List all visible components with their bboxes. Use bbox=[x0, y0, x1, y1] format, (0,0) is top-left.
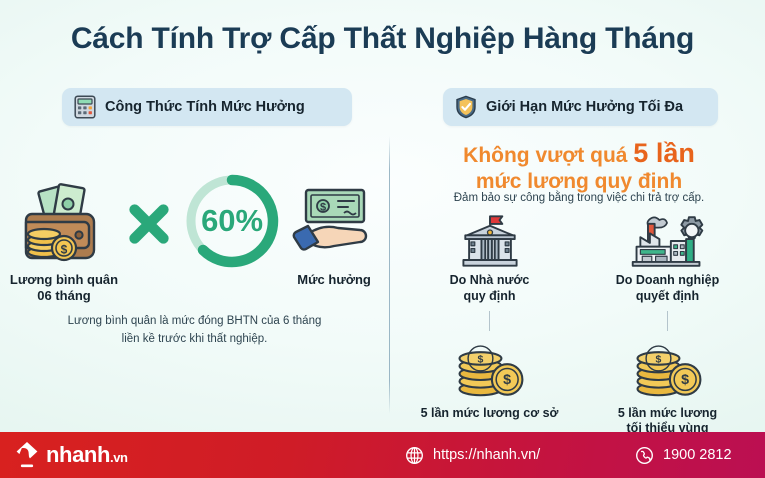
footer-phone[interactable]: 1900 2812 bbox=[635, 446, 732, 465]
page-title: Cách Tính Trợ Cấp Thất Nghiệp Hàng Tháng bbox=[0, 22, 765, 56]
limit-headline: Không vượt quá 5 lần mức lương quy định bbox=[396, 138, 762, 195]
section-badge-limit-label: Giới Hạn Mức Hưởng Tối Đa bbox=[486, 99, 683, 115]
footer-website[interactable]: https://nhanh.vn/ bbox=[405, 446, 540, 465]
footer-phone-text: 1900 2812 bbox=[663, 447, 732, 463]
formula-result-caption: Mức hưởng bbox=[297, 272, 371, 288]
limit-headline-prefix: Không vượt quá bbox=[463, 144, 627, 167]
coin-stack-icon: $ $ bbox=[450, 335, 530, 401]
limit-subtitle: Đảm bảo sự công bằng trong việc chi trả … bbox=[396, 192, 762, 204]
footer-bar: nhanh.vn https://nhanh.vn/ 1900 2812 bbox=[0, 432, 765, 478]
footer-website-text: https://nhanh.vn/ bbox=[433, 447, 540, 463]
formula-result-benefit: $ Mức hưởng bbox=[288, 178, 380, 288]
limit-branch-state-label: Do Nhà nước quy định bbox=[450, 273, 530, 305]
calculator-icon bbox=[74, 95, 96, 119]
limit-branch-business: Do Doanh nghiệp quyết định $ $ bbox=[580, 216, 755, 437]
svg-text:$: $ bbox=[477, 354, 483, 365]
formula-factor-caption: Lương bình quân 06 tháng bbox=[10, 272, 118, 305]
branch-connector-line bbox=[489, 311, 490, 331]
formula-note: Lương bình quân là mức đóng BHTN của 6 t… bbox=[22, 313, 367, 349]
hand-cash-icon: $ bbox=[288, 178, 380, 270]
factory-gear-icon bbox=[627, 216, 709, 268]
multiply-operator bbox=[122, 178, 176, 270]
brand-logo[interactable]: nhanh.vn bbox=[14, 440, 128, 470]
svg-text:$: $ bbox=[681, 372, 689, 388]
infographic-poster: Cách Tính Trợ Cấp Thất Nghiệp Hàng Tháng… bbox=[0, 0, 765, 478]
svg-text:$: $ bbox=[503, 372, 511, 388]
multiply-icon bbox=[126, 201, 172, 247]
brand-name: nhanh.vn bbox=[46, 442, 128, 468]
globe-icon bbox=[405, 446, 424, 465]
limit-headline-highlight: 5 lần bbox=[633, 138, 695, 168]
percent-donut: 60% bbox=[180, 178, 284, 270]
phone-icon bbox=[635, 446, 654, 465]
formula-row: $ Lương bình quân 06 tháng 60% bbox=[6, 178, 384, 298]
wallet-money-icon: $ bbox=[16, 178, 112, 270]
limit-headline-line2: mức lương quy định bbox=[396, 170, 762, 195]
section-badge-limit: Giới Hạn Mức Hưởng Tối Đa bbox=[443, 88, 718, 126]
svg-text:$: $ bbox=[61, 243, 68, 257]
coin-stack-icon: $ $ bbox=[628, 335, 708, 401]
percent-value-label: 60% bbox=[180, 169, 284, 273]
limit-branch-state: Do Nhà nước quy định $ $ 5 bbox=[402, 216, 577, 421]
formula-percent: 60% bbox=[180, 178, 284, 288]
government-building-icon bbox=[452, 216, 528, 268]
svg-text:$: $ bbox=[655, 354, 661, 365]
vertical-divider bbox=[389, 136, 390, 414]
svg-text:$: $ bbox=[320, 202, 326, 214]
nhanh-logo-icon bbox=[14, 440, 40, 470]
shield-check-icon bbox=[455, 95, 477, 119]
formula-factor-average-salary: $ Lương bình quân 06 tháng bbox=[10, 178, 118, 305]
section-badge-formula: Công Thức Tính Mức Hưởng bbox=[62, 88, 352, 126]
branch-connector-line bbox=[667, 311, 668, 331]
limit-branch-business-label: Do Doanh nghiệp quyết định bbox=[616, 273, 719, 305]
percent-spacer bbox=[230, 272, 234, 288]
limit-branch-state-foot: 5 lần mức lương cơ sở bbox=[421, 406, 559, 422]
section-badge-formula-label: Công Thức Tính Mức Hưởng bbox=[105, 99, 305, 115]
